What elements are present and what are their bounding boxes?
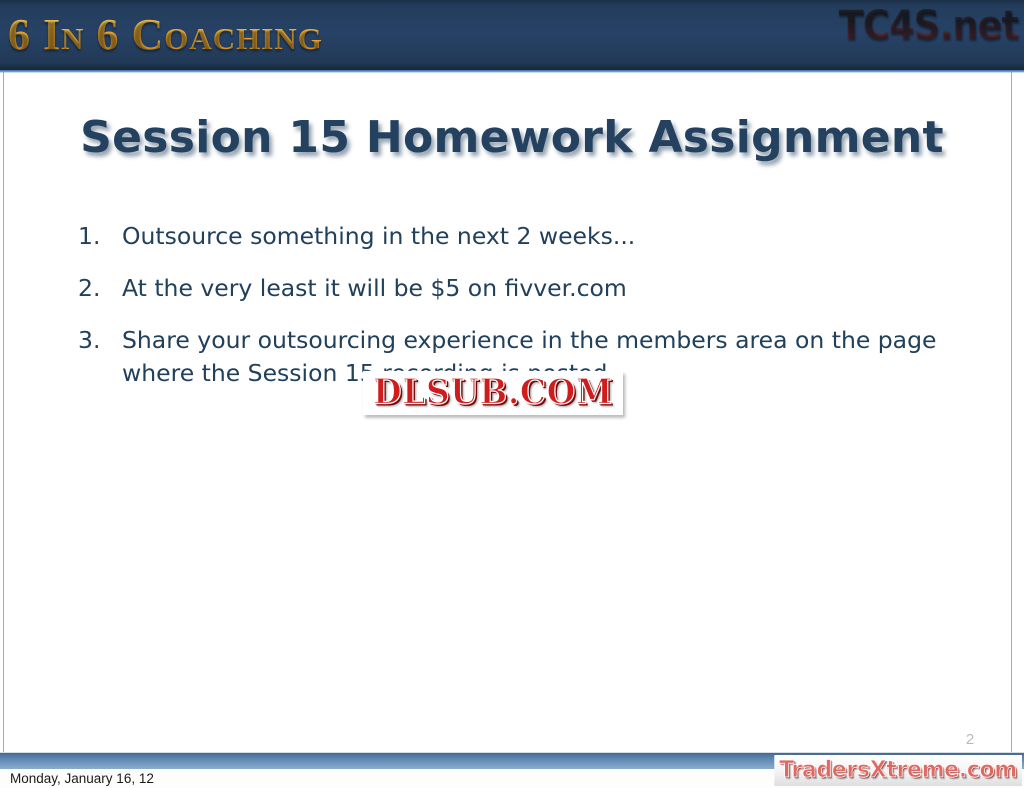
list-item-number: 1. xyxy=(78,220,122,253)
tradersxtreme-logo: TradersXtreme.com xyxy=(775,755,1022,786)
tc4s-site-logo: TC4S.net xyxy=(838,2,1018,50)
page-title: Session 15 Homework Assignment xyxy=(0,112,1024,163)
list-item: 2. At the very least it will be $5 on fi… xyxy=(78,272,978,305)
brand-title: 6 In 6 Coaching xyxy=(8,8,323,62)
slide-border-right xyxy=(1011,72,1012,752)
dlsub-watermark: DLSUB.COM xyxy=(363,371,623,415)
slide-border-left xyxy=(3,72,4,752)
list-item-number: 2. xyxy=(78,272,122,305)
header-underline-divider xyxy=(0,70,1024,73)
list-item: 1. Outsource something in the next 2 wee… xyxy=(78,220,978,253)
presentation-slide: 6 In 6 Coaching TC4S.net Session 15 Home… xyxy=(0,0,1024,788)
list-item-number: 3. xyxy=(78,324,122,357)
slide-header-band: 6 In 6 Coaching TC4S.net xyxy=(0,0,1024,70)
list-item-text: At the very least it will be $5 on fivve… xyxy=(122,272,978,305)
list-item-text: Outsource something in the next 2 weeks.… xyxy=(122,220,978,253)
page-number: 2 xyxy=(955,731,985,749)
footer-date: Monday, January 16, 12 xyxy=(10,769,154,788)
